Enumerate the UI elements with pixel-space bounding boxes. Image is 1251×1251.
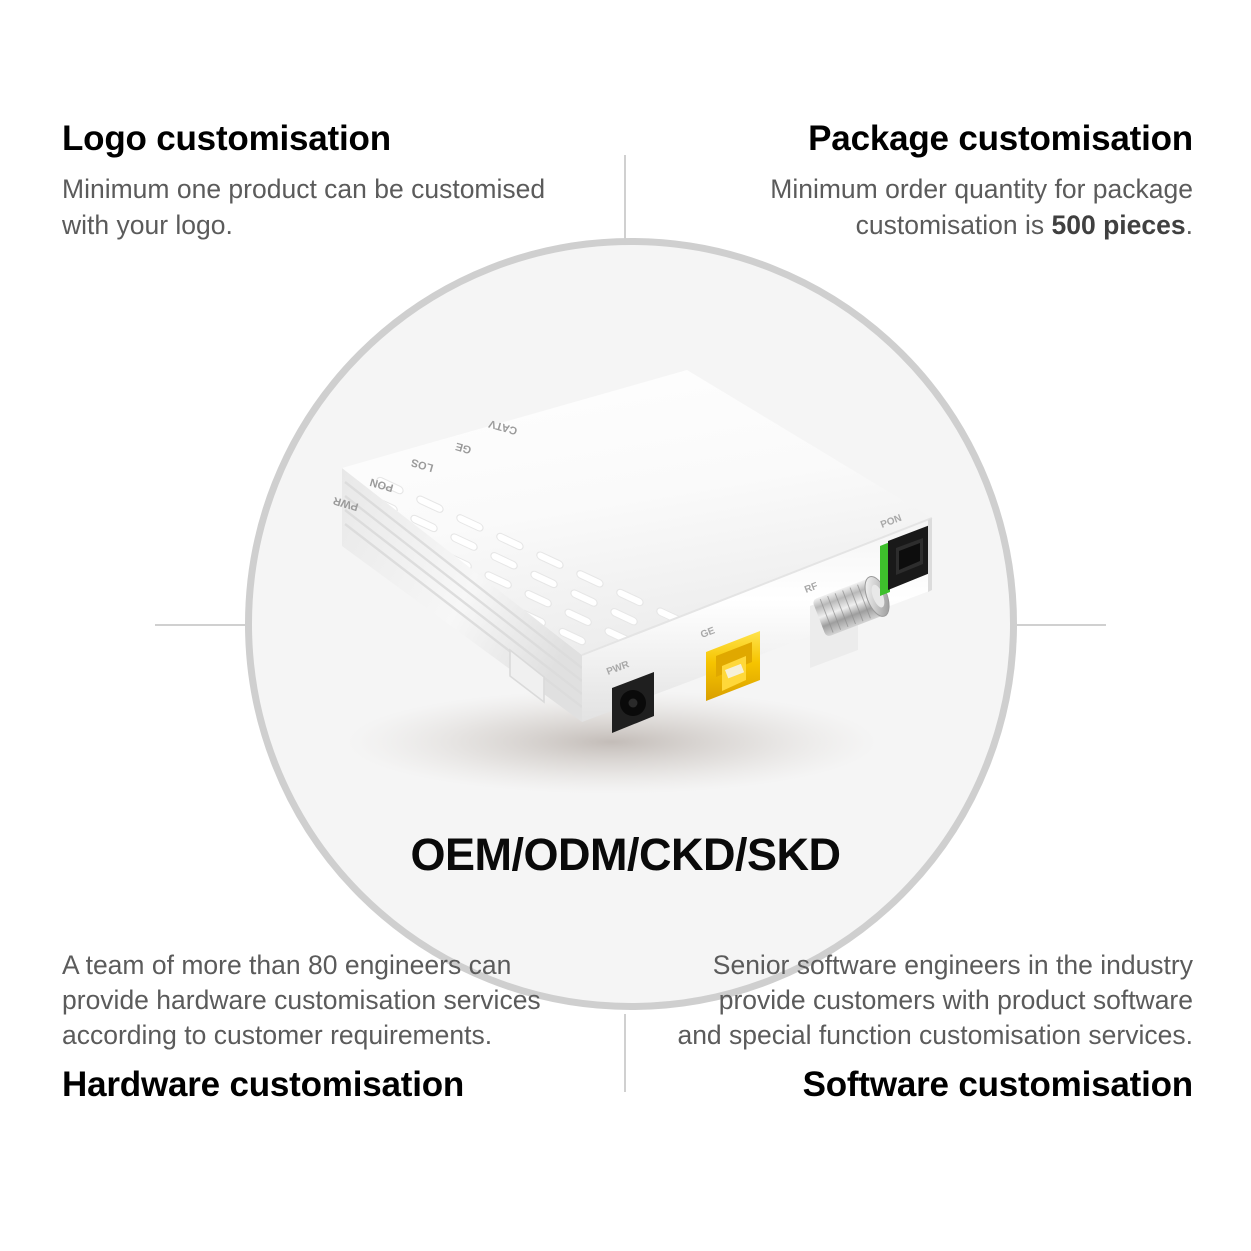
body-software-customisation: Senior software engineers in the industr…	[673, 948, 1193, 1054]
body-package-quantity: 500 pieces	[1052, 210, 1186, 240]
quadrant-package-customisation: Package customisation Minimum order quan…	[683, 118, 1193, 243]
center-caption-oem-odm: OEM/ODM/CKD/SKD	[0, 829, 1251, 881]
body-package-text-after: .	[1186, 210, 1193, 240]
divider-bottom	[624, 1014, 626, 1092]
quadrant-logo-customisation: Logo customisation Minimum one product c…	[62, 118, 562, 243]
body-package-customisation: Minimum order quantity for package custo…	[683, 172, 1193, 242]
quadrant-software-customisation: Senior software engineers in the industr…	[673, 948, 1193, 1105]
body-hardware-customisation: A team of more than 80 engineers can pro…	[62, 948, 582, 1054]
product-image: PWR PON LOS GE CATV PWR	[282, 350, 972, 820]
body-logo-customisation: Minimum one product can be customised wi…	[62, 172, 562, 242]
heading-logo-customisation: Logo customisation	[62, 118, 562, 159]
infographic-canvas: PWR PON LOS GE CATV PWR	[0, 0, 1251, 1251]
heading-package-customisation: Package customisation	[683, 118, 1193, 159]
quadrant-hardware-customisation: A team of more than 80 engineers can pro…	[62, 948, 582, 1105]
heading-software-customisation: Software customisation	[673, 1064, 1193, 1105]
heading-hardware-customisation: Hardware customisation	[62, 1064, 582, 1105]
divider-left	[155, 624, 249, 626]
divider-top	[624, 155, 626, 243]
divider-right	[1010, 624, 1106, 626]
